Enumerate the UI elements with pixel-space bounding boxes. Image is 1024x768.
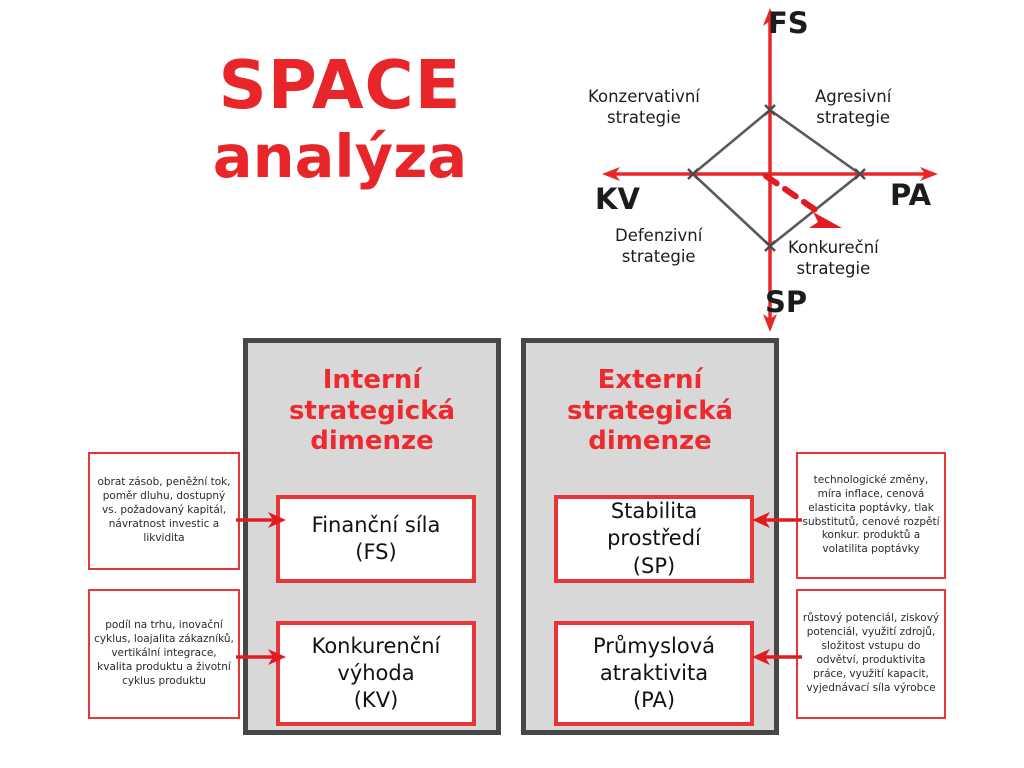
factor-kv-abbr: (KV): [354, 688, 399, 712]
quadrant-label-aggressive-l1: Agresivní: [815, 87, 891, 106]
detail-box-environmental-stability-factors: technologické změny, míra inflace, cenov…: [796, 452, 946, 579]
panel-internal-title-l3: dimenze: [310, 426, 434, 456]
connector-arrow-sp: [752, 505, 802, 535]
quadrant-label-aggressive-l2: strategie: [816, 108, 890, 127]
detail-kv-text: podíl na trhu, inovační cyklus, loajalit…: [94, 619, 234, 688]
factor-box-industry-attractiveness: Průmyslová atraktivita (PA): [554, 621, 754, 726]
factor-box-environmental-stability: Stabilita prostředí (SP): [554, 495, 754, 583]
quadrant-label-conservative-l1: Konzervativní: [588, 87, 700, 106]
resultant-vector-dashed: [766, 176, 820, 213]
factor-fs-label: Finanční síla: [312, 513, 441, 537]
connector-arrow-pa: [752, 642, 802, 672]
factor-sp-abbr: (SP): [633, 554, 675, 578]
factor-pa-label-l2: atraktivita: [600, 661, 708, 685]
quadrant-label-aggressive: Agresivní strategie: [815, 87, 891, 128]
connector-arrow-kv: [236, 642, 286, 672]
panel-external-title: Externí strategická dimenze: [526, 365, 774, 457]
quadrant-label-competitive-l1: Konkureční: [788, 238, 879, 257]
connector-arrow-fs: [236, 505, 286, 535]
panel-internal-title-l2: strategická: [289, 396, 455, 426]
panel-internal-dimension: Interní strategická dimenze Finanční síl…: [243, 338, 501, 735]
axis-label-pa: PA: [890, 178, 931, 212]
panel-external-title-l3: dimenze: [588, 426, 712, 456]
factor-pa-label-l1: Průmyslová: [593, 634, 715, 658]
title-line-analyza: analýza: [150, 127, 530, 186]
factor-fs-abbr: (FS): [355, 540, 396, 564]
panel-internal-title: Interní strategická dimenze: [248, 365, 496, 457]
panel-external-title-l1: Externí: [598, 365, 703, 395]
detail-box-competitive-advantage-factors: podíl na trhu, inovační cyklus, loajalit…: [88, 589, 240, 719]
factor-pa-abbr: (PA): [633, 688, 675, 712]
quadrant-label-defensive-l1: Defenzivní: [615, 226, 702, 245]
axis-label-fs: FS: [768, 6, 809, 40]
panel-internal-title-l1: Interní: [323, 365, 422, 395]
title-line-space: SPACE: [150, 52, 530, 119]
quadrant-label-conservative-l2: strategie: [607, 108, 681, 127]
quadrant-label-defensive: Defenzivní strategie: [615, 226, 702, 267]
quadrant-label-competitive: Konkureční strategie: [788, 238, 879, 279]
detail-fs-text: obrat zásob, peněžní tok, poměr dluhu, d…: [94, 476, 234, 545]
panel-external-dimension: Externí strategická dimenze Stabilita pr…: [521, 338, 779, 735]
panel-external-title-l2: strategická: [567, 396, 733, 426]
quadrant-label-competitive-l2: strategie: [796, 259, 870, 278]
quadrant-label-conservative: Konzervativní strategie: [588, 87, 700, 128]
detail-pa-text: růstový potenciál, ziskový potenciál, vy…: [802, 612, 940, 695]
detail-box-financial-strength-factors: obrat zásob, peněžní tok, poměr dluhu, d…: [88, 452, 240, 570]
factor-box-financial-strength: Finanční síla (FS): [276, 495, 476, 583]
factor-kv-label-l1: Konkurenční: [312, 634, 441, 658]
space-analysis-infographic: SPACE analýza: [0, 0, 1024, 768]
axis-label-kv: KV: [595, 182, 640, 216]
space-quadrant-diagram: FS PA KV SP Konzervativní strategie Agre…: [570, 0, 1024, 335]
factor-box-competitive-advantage: Konkurenční výhoda (KV): [276, 621, 476, 726]
quadrant-label-defensive-l2: strategie: [622, 247, 696, 266]
detail-box-industry-attractiveness-factors: růstový potenciál, ziskový potenciál, vy…: [796, 589, 946, 719]
resultant-vector-arrowhead: [809, 212, 842, 228]
axis-label-sp: SP: [765, 285, 807, 319]
factor-kv-label-l2: výhoda: [337, 661, 414, 685]
factor-sp-label: Stabilita prostředí: [607, 499, 701, 550]
page-title: SPACE analýza: [150, 52, 530, 186]
detail-sp-text: technologické změny, míra inflace, cenov…: [802, 474, 940, 557]
